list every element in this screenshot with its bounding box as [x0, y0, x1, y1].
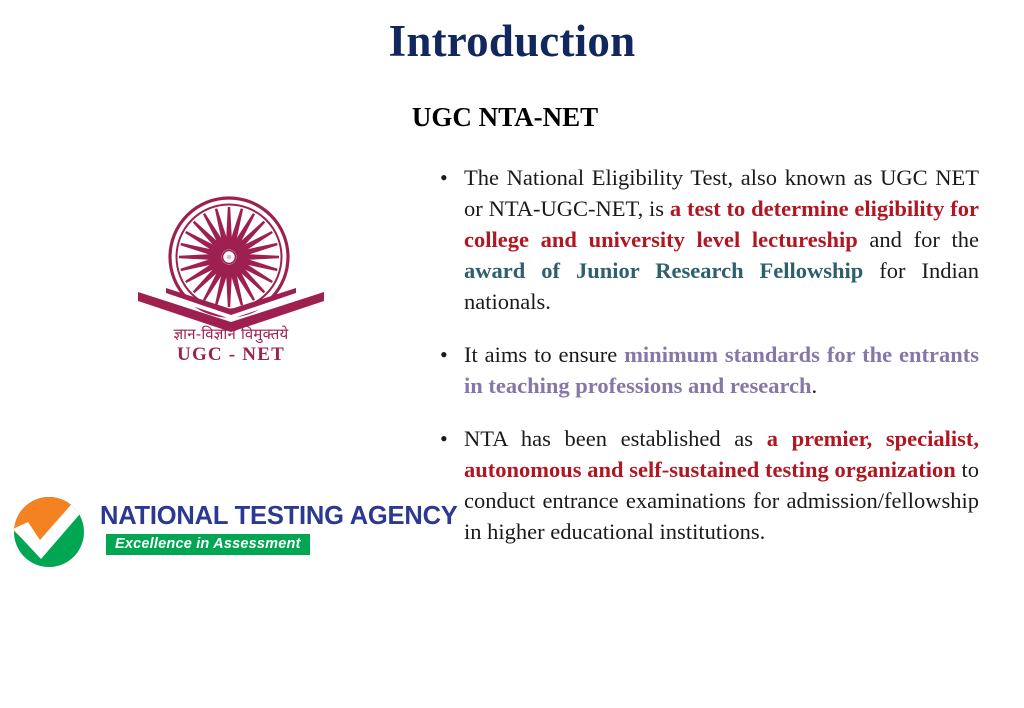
text-run-plain: and for the: [858, 227, 979, 252]
nta-logo-title: NATIONAL TESTING AGENCY: [100, 502, 458, 531]
page-title: Introduction: [0, 18, 1024, 65]
nta-logo: NATIONAL TESTING AGENCY Excellence in As…: [12, 496, 442, 568]
ugc-net-logo: ज्ञान-विज्ञान विमुक्तये UGC - NET: [136, 196, 326, 366]
nta-checkmark-circle-icon: [12, 496, 86, 568]
text-run-plain: .: [812, 373, 818, 398]
ugc-logo-name: UGC - NET: [136, 344, 326, 366]
bullet-text: NTA has been established as a premier, s…: [464, 423, 979, 547]
bullet-text: The National Eligibility Test, also know…: [464, 162, 979, 317]
text-run-plain: NTA has been established as: [464, 426, 767, 451]
nta-logo-tagline: Excellence in Assessment: [106, 534, 310, 555]
list-item: • NTA has been established as a premier,…: [434, 423, 979, 547]
text-run-teal: award of Junior Research Fellowship: [464, 258, 863, 283]
bullet-marker: •: [434, 423, 464, 454]
ugc-logo-motto: ज्ञान-विज्ञान विमुक्तये: [136, 324, 326, 344]
list-item: • The National Eligibility Test, also kn…: [434, 162, 979, 317]
bullet-marker: •: [434, 162, 464, 193]
bullet-text: It aims to ensure minimum standards for …: [464, 339, 979, 401]
bullet-list: • The National Eligibility Test, also kn…: [434, 162, 979, 547]
slide-canvas: Introduction UGC NTA-NET ज्ञान-विज्ञान व…: [0, 0, 1024, 708]
list-item: • It aims to ensure minimum standards fo…: [434, 339, 979, 401]
text-run-plain: It aims to ensure: [464, 342, 624, 367]
page-subtitle: UGC NTA-NET: [0, 103, 1010, 133]
bullet-marker: •: [434, 339, 464, 370]
